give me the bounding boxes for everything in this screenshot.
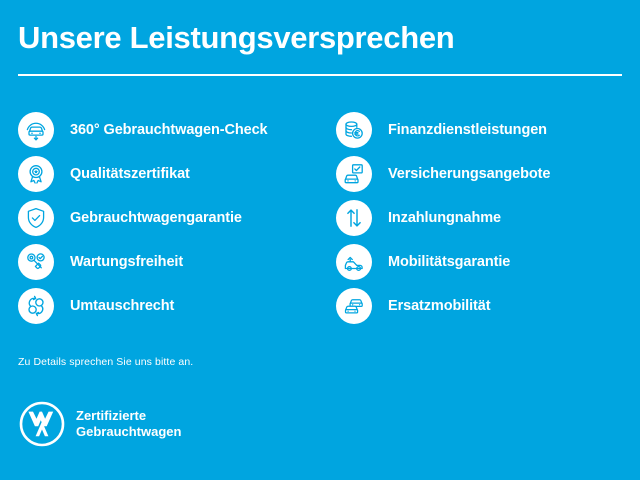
benefit-item: Inzahlungnahme (336, 196, 640, 240)
wrench-check-icon (18, 244, 54, 280)
benefit-item: Mobilitätsgarantie (336, 240, 640, 284)
exchange-arrows-icon (18, 288, 54, 324)
details-note: Zu Details sprechen Sie uns bitte an. (18, 356, 193, 368)
benefit-item: Umtauschrecht (18, 284, 328, 328)
brand-lockup: Zertifizierte Gebrauchtwagen (18, 400, 181, 448)
benefit-item: 360° Gebrauchtwagen-Check (18, 108, 328, 152)
benefit-label: 360° Gebrauchtwagen-Check (70, 122, 268, 138)
header-divider (18, 74, 622, 76)
benefit-item: Versicherungsangebote (336, 152, 640, 196)
benefits-left-column: 360° Gebrauchtwagen-Check Qualitätszerti… (18, 108, 328, 328)
up-down-arrows-icon (336, 200, 372, 236)
brand-line-1: Zertifizierte (76, 408, 181, 424)
tow-car-icon (336, 244, 372, 280)
volkswagen-logo (18, 400, 66, 448)
coins-euro-icon (336, 112, 372, 148)
slide-canvas: Unsere Leistungsversprechen 360° (0, 0, 640, 480)
brand-line-2: Gebrauchtwagen (76, 424, 181, 440)
benefit-label: Versicherungsangebote (388, 166, 550, 182)
benefit-item: Qualitätszertifikat (18, 152, 328, 196)
benefit-label: Mobilitätsgarantie (388, 254, 510, 270)
benefit-label: Ersatzmobilität (388, 298, 490, 314)
shield-check-icon (18, 200, 54, 236)
benefit-item: Finanzdienstleistungen (336, 108, 640, 152)
award-rosette-icon (18, 156, 54, 192)
benefit-label: Qualitätszertifikat (70, 166, 190, 182)
brand-text: Zertifizierte Gebrauchtwagen (76, 408, 181, 441)
two-cars-icon (336, 288, 372, 324)
benefit-label: Umtauschrecht (70, 298, 174, 314)
benefit-label: Finanzdienstleistungen (388, 122, 547, 138)
benefit-item: Gebrauchtwagengarantie (18, 196, 328, 240)
car-360-check-icon (18, 112, 54, 148)
benefit-item: Wartungsfreiheit (18, 240, 328, 284)
benefit-label: Inzahlungnahme (388, 210, 501, 226)
benefit-label: Wartungsfreiheit (70, 254, 183, 270)
benefits-right-column: Finanzdienstleistungen Versicherungsange… (336, 108, 640, 328)
car-document-check-icon (336, 156, 372, 192)
benefit-label: Gebrauchtwagengarantie (70, 210, 242, 226)
page-title: Unsere Leistungsversprechen (18, 22, 622, 55)
header: Unsere Leistungsversprechen (18, 22, 622, 55)
benefit-item: Ersatzmobilität (336, 284, 640, 328)
